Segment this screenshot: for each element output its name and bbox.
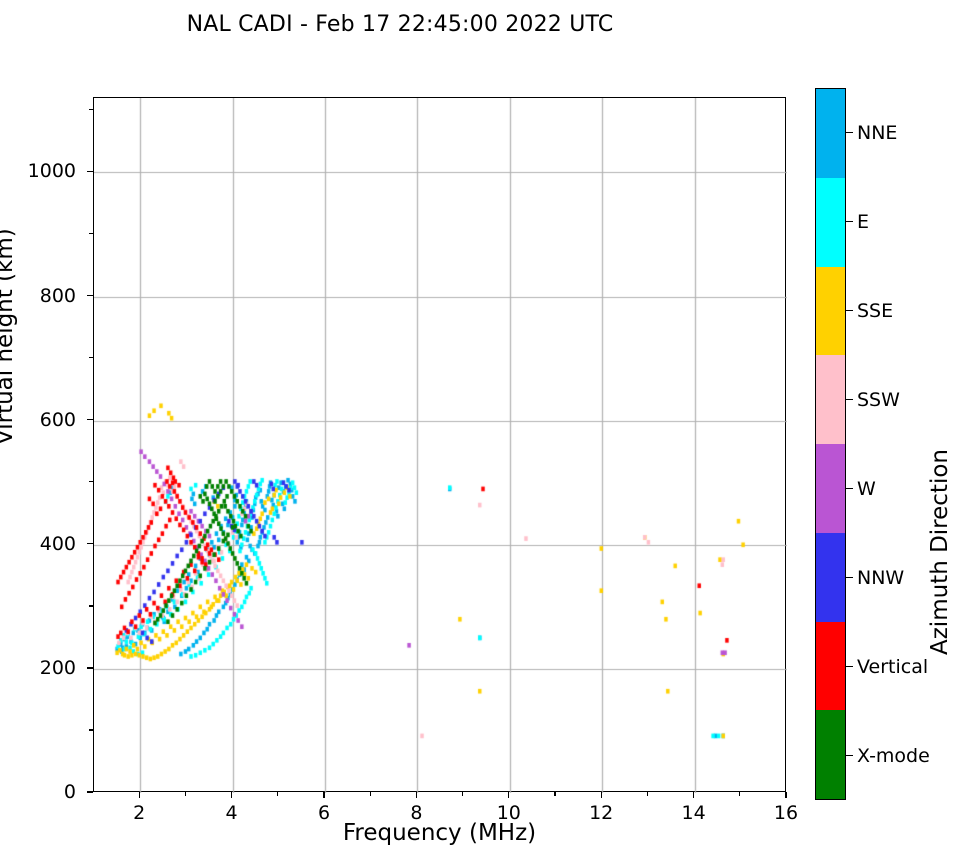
colorbar-tick-mark bbox=[846, 399, 853, 400]
colorbar-tick-label-x-mode: X-mode bbox=[857, 745, 930, 767]
x-tick-mark bbox=[508, 792, 509, 798]
x-minor-tick-mark bbox=[462, 792, 463, 796]
x-tick-mark bbox=[139, 792, 140, 798]
colorbar-segment-x-mode[interactable] bbox=[816, 710, 845, 799]
colorbar-tick-label-e: E bbox=[857, 211, 869, 233]
colorbar-tick-mark bbox=[846, 132, 853, 133]
x-tick-mark bbox=[231, 792, 232, 798]
y-minor-tick-mark bbox=[89, 109, 93, 110]
y-tick-mark bbox=[87, 171, 93, 172]
colorbar-tick-mark bbox=[846, 310, 853, 311]
colorbar-segment-ssw[interactable] bbox=[816, 355, 845, 444]
colorbar-tick-mark bbox=[846, 577, 853, 578]
y-tick-mark bbox=[87, 667, 93, 668]
colorbar-segment-nnw[interactable] bbox=[816, 533, 845, 622]
x-minor-tick-mark bbox=[554, 792, 555, 796]
y-axis-label: Virtual height (km) bbox=[0, 228, 18, 445]
colorbar-tick-mark bbox=[846, 755, 853, 756]
colorbar-segment-vertical[interactable] bbox=[816, 622, 845, 711]
colorbar-tick-label-nne: NNE bbox=[857, 122, 897, 144]
x-minor-tick-mark bbox=[370, 792, 371, 796]
ionogram-plot-page: NAL CADI - Feb 17 22:45:00 2022 UTC 0200… bbox=[0, 0, 958, 857]
y-tick-label: 400 bbox=[0, 533, 76, 555]
azimuth-colorbar[interactable] bbox=[815, 88, 846, 800]
colorbar-tick-mark bbox=[846, 221, 853, 222]
y-tick-label: 200 bbox=[0, 657, 76, 679]
colorbar-segment-sse[interactable] bbox=[816, 267, 845, 356]
y-tick-mark bbox=[87, 791, 93, 792]
x-tick-mark bbox=[785, 792, 786, 798]
x-tick-mark bbox=[323, 792, 324, 798]
colorbar-segment-w[interactable] bbox=[816, 444, 845, 533]
y-minor-tick-mark bbox=[89, 357, 93, 358]
colorbar-tick-label-ssw: SSW bbox=[857, 389, 900, 411]
x-minor-tick-mark bbox=[185, 792, 186, 796]
colorbar-segment-nne[interactable] bbox=[816, 89, 845, 178]
y-minor-tick-mark bbox=[89, 481, 93, 482]
colorbar-label: Azimuth Direction bbox=[927, 449, 953, 655]
colorbar-tick-label-vertical: Vertical bbox=[857, 656, 928, 678]
plot-area bbox=[93, 97, 786, 792]
x-minor-tick-mark bbox=[647, 792, 648, 796]
scatter-data-layer bbox=[94, 98, 787, 793]
colorbar-segment-e[interactable] bbox=[816, 178, 845, 267]
y-tick-label: 0 bbox=[0, 781, 76, 803]
x-minor-tick-mark bbox=[277, 792, 278, 796]
page-title: NAL CADI - Feb 17 22:45:00 2022 UTC bbox=[0, 12, 800, 37]
y-tick-mark bbox=[87, 295, 93, 296]
y-minor-tick-mark bbox=[89, 605, 93, 606]
x-tick-mark bbox=[601, 792, 602, 798]
colorbar-tick-mark bbox=[846, 488, 853, 489]
x-tick-mark bbox=[416, 792, 417, 798]
y-minor-tick-mark bbox=[89, 233, 93, 234]
colorbar-tick-label-nnw: NNW bbox=[857, 567, 904, 589]
y-tick-label: 1000 bbox=[0, 160, 76, 182]
x-minor-tick-mark bbox=[739, 792, 740, 796]
y-tick-mark bbox=[87, 419, 93, 420]
x-tick-mark bbox=[693, 792, 694, 798]
colorbar-tick-label-w: W bbox=[857, 478, 876, 500]
colorbar-tick-mark bbox=[846, 666, 853, 667]
y-tick-mark bbox=[87, 543, 93, 544]
x-axis-label: Frequency (MHz) bbox=[93, 820, 786, 846]
colorbar-tick-label-sse: SSE bbox=[857, 300, 893, 322]
y-minor-tick-mark bbox=[89, 729, 93, 730]
